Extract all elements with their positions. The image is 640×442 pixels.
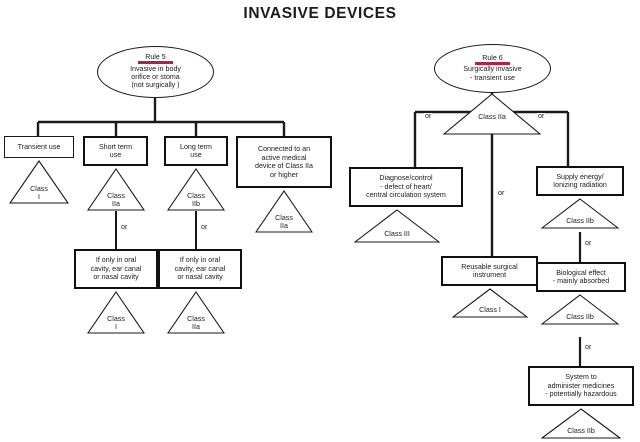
class-label-long-term-2: IIb bbox=[192, 200, 200, 208]
diagnose-line-2: - defect of heart/ bbox=[380, 183, 432, 192]
page-title: INVASIVE DEVICES bbox=[0, 5, 640, 23]
biological-effect-line-2: - mainly absorbed bbox=[553, 277, 609, 286]
rule-5-line-1: Invasive in body bbox=[130, 65, 181, 73]
administer-line-2: administer medicines bbox=[548, 382, 615, 391]
oral-exception-2-line-1: If only in oral bbox=[180, 256, 220, 265]
box-connected-line-2: active medical bbox=[262, 154, 307, 163]
triangle-class-oral-exception-short-term: Class I bbox=[87, 291, 145, 334]
administer-line-1: System to bbox=[565, 373, 597, 382]
triangle-class-short-term: Class IIa bbox=[87, 168, 145, 211]
diagram-canvas: INVASIVE DEVICES bbox=[0, 0, 640, 442]
triangle-class-iia-root: Class IIa bbox=[443, 93, 541, 135]
or-label-biological-effect: or bbox=[584, 240, 592, 247]
triangle-class-supply-energy: Class IIb bbox=[541, 198, 619, 229]
class-label-short-term-2: IIa bbox=[112, 200, 120, 208]
class-label-biological-effect: Class IIb bbox=[566, 313, 594, 321]
diagnose-line-3: central circulation system bbox=[366, 191, 446, 200]
box-connected-line-3: device of Class IIa bbox=[255, 162, 313, 171]
class-label-transient-2: I bbox=[38, 193, 40, 201]
box-connected-active-device: Connected to an active medical device of… bbox=[236, 136, 332, 188]
or-label-right-middle: or bbox=[497, 190, 505, 197]
supply-energy-line-1: Supply energy/ bbox=[556, 173, 603, 182]
oral-exception-2-line-2: cavity, ear canal bbox=[175, 265, 226, 274]
rule-5-line-3: (not surgically ) bbox=[131, 81, 179, 89]
or-label-administer-medicines: or bbox=[584, 344, 592, 351]
biological-effect-line-1: Biological effect bbox=[556, 269, 606, 278]
class-label-reusable: Class I bbox=[479, 306, 501, 314]
triangle-class-biological-effect: Class IIb bbox=[541, 294, 619, 325]
box-oral-exception-short-term: If only in oral cavity, ear canal or nas… bbox=[74, 249, 158, 289]
reusable-line-2: instrument bbox=[473, 271, 506, 280]
box-short-term-use-line-2: use bbox=[110, 151, 121, 160]
rule-6-line-2: - transient use bbox=[470, 74, 515, 82]
rule-6-bubble: Rule 6 Surgically invasive - transient u… bbox=[434, 44, 551, 93]
or-label-long-term: or bbox=[200, 224, 208, 231]
rule-6-tag: Rule 6 bbox=[482, 55, 503, 64]
box-long-term-use: Long term use bbox=[164, 136, 228, 166]
triangle-class-diagnose: Class III bbox=[354, 209, 440, 243]
supply-energy-line-2: Ionizing radiation bbox=[553, 181, 607, 190]
box-reusable-surgical-instrument: Reusable surgical instrument bbox=[441, 256, 538, 286]
triangle-class-long-term: Class IIb bbox=[167, 168, 225, 211]
box-long-term-use-line-2: use bbox=[190, 151, 201, 160]
or-label-short-term: or bbox=[120, 224, 128, 231]
class-label-transient-1: Class bbox=[30, 185, 48, 193]
diagnose-line-1: Diagnose/control bbox=[379, 174, 432, 183]
oral-exception-1-line-2: cavity, ear canal bbox=[91, 265, 142, 274]
rule-5-tag: Rule 5 bbox=[145, 54, 166, 63]
class-label-diagnose: Class III bbox=[384, 230, 410, 238]
box-transient-use-label: Transient use bbox=[18, 143, 61, 152]
class-label-supply-energy: Class IIb bbox=[566, 217, 594, 225]
box-short-term-use: Short term use bbox=[83, 136, 148, 166]
box-administer-medicines: System to administer medicines - potenti… bbox=[528, 366, 634, 406]
reusable-line-1: Reusable surgical bbox=[461, 263, 517, 272]
box-biological-effect: Biological effect - mainly absorbed bbox=[536, 262, 626, 292]
class-label-connected-2: IIa bbox=[280, 222, 288, 230]
triangle-class-reusable: Class I bbox=[452, 288, 528, 318]
box-connected-line-1: Connected to an bbox=[258, 145, 310, 154]
class-label-connected-1: Class bbox=[275, 214, 293, 222]
oral-exception-1-line-3: or nasal cavity bbox=[93, 273, 138, 282]
box-connected-line-4: or higher bbox=[270, 171, 298, 180]
box-diagnose-control: Diagnose/control - defect of heart/ cent… bbox=[349, 167, 463, 207]
class-label-long-term-1: Class bbox=[187, 192, 205, 200]
class-label-oral-1-b: I bbox=[115, 323, 117, 331]
triangle-class-administer-medicines: Class IIb bbox=[541, 408, 621, 439]
class-label-iia-root: Class IIa bbox=[478, 113, 506, 121]
box-oral-exception-long-term: If only in oral cavity, ear canal or nas… bbox=[158, 249, 242, 289]
box-transient-use: Transient use bbox=[4, 136, 74, 158]
oral-exception-2-line-3: or nasal cavity bbox=[177, 273, 222, 282]
oral-exception-1-line-1: If only in oral bbox=[96, 256, 136, 265]
triangle-class-oral-exception-long-term: Class IIa bbox=[167, 291, 225, 334]
rule-6-line-1: Surgically invasive bbox=[463, 65, 521, 73]
triangle-class-transient-use: Class I bbox=[9, 160, 69, 204]
box-supply-energy: Supply energy/ Ionizing radiation bbox=[536, 166, 624, 196]
administer-line-3: - potentially hazardous bbox=[545, 390, 616, 399]
class-label-oral-2-b: IIa bbox=[192, 323, 200, 331]
class-label-administer-medicines: Class IIb bbox=[567, 427, 595, 435]
box-short-term-use-line-1: Short term bbox=[99, 143, 132, 152]
rule-5-bubble: Rule 5 Invasive in body orifice or stoma… bbox=[97, 46, 214, 98]
rule-5-line-2: orifice or stoma bbox=[131, 73, 180, 81]
or-label-right-left: or bbox=[424, 113, 432, 120]
triangle-class-connected: Class IIa bbox=[255, 190, 313, 233]
class-label-oral-2-a: Class bbox=[187, 315, 205, 323]
box-long-term-use-line-1: Long term bbox=[180, 143, 212, 152]
class-label-short-term-1: Class bbox=[107, 192, 125, 200]
class-label-oral-1-a: Class bbox=[107, 315, 125, 323]
